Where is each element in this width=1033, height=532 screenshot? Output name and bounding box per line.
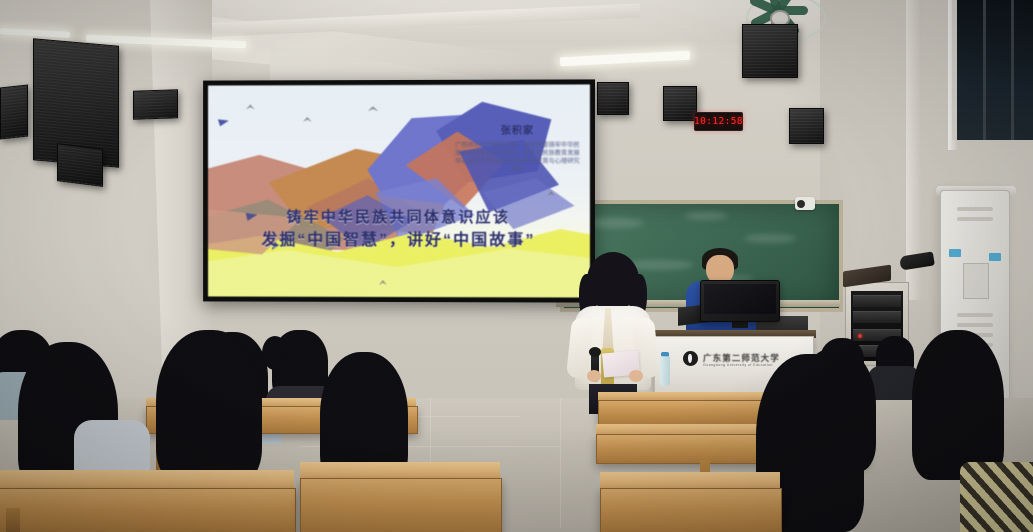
slide-title: 铸牢中华民族共同体意识应该 发掘“中国智慧”，讲好“中国故事” — [208, 207, 590, 253]
lecture-hall-photo: 10:12:58 — [0, 0, 1033, 532]
slide-title-line-2: 发掘“中国智慧”，讲好“中国故事” — [208, 230, 590, 253]
clock-time: 10:12:58 — [694, 116, 743, 127]
microphone-head — [589, 347, 601, 357]
projection-screen: 张积家 广西师范大学教育学部、国家民委铸牢中华民族共同体意识研究基地、教育部民族… — [203, 79, 595, 302]
wall-speaker — [133, 89, 178, 120]
wall-speaker — [597, 82, 629, 115]
slide-title-line-1: 铸牢中华民族共同体意识应该 — [208, 207, 590, 229]
desk-leg — [6, 508, 20, 532]
surveillance-camera-icon — [795, 197, 815, 210]
student-desk-front — [300, 478, 502, 532]
wall-speaker — [663, 86, 697, 121]
hand-right — [629, 370, 643, 382]
wall-speaker — [789, 108, 824, 144]
person-presenter — [565, 252, 661, 402]
wall-speaker-subwoofer — [57, 143, 103, 187]
water-bottle[interactable] — [660, 356, 670, 386]
slide-speaker-name: 张积家 — [501, 126, 534, 137]
hair-top — [587, 252, 639, 308]
slide-speaker-affiliation: 广西师范大学教育学部、国家民委铸牢中华民族共同体意识研究基地、教育部民族教育发展… — [454, 142, 581, 174]
hand-left — [587, 370, 601, 382]
led-wall-clock: 10:12:58 — [694, 112, 743, 131]
student-desk-front — [0, 488, 296, 532]
slide-speaker-credit: 张积家 广西师范大学教育学部、国家民委铸牢中华民族共同体意识研究基地、教育部民族… — [454, 120, 581, 175]
podium-institution-latin: Guangdong University of Education — [703, 363, 773, 367]
student-desk-front — [600, 488, 782, 532]
institution-logo-icon — [683, 351, 698, 366]
wall-speaker — [0, 85, 28, 140]
projected-slide: 张积家 广西师范大学教育学部、国家民委铸牢中华民族共同体意识研究基地、教育部民族… — [208, 84, 590, 297]
window — [952, 0, 1033, 140]
desktop-monitor[interactable] — [700, 280, 780, 322]
wall-speaker — [742, 24, 798, 78]
